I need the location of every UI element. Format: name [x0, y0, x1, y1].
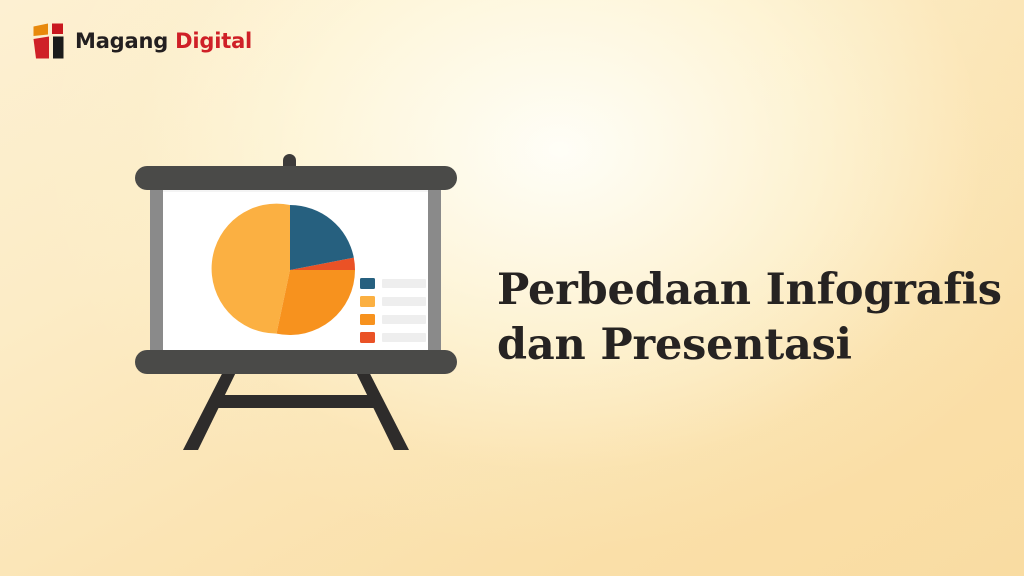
presentation-board-illustration: [128, 152, 464, 452]
board-top-bar: [135, 166, 457, 190]
legend-item: [360, 296, 426, 307]
legend-swatch: [360, 314, 375, 325]
legend-label-bar: [382, 279, 426, 288]
brand-name-part-1: Magang: [75, 29, 175, 53]
magang-digital-logo-mark-icon: [32, 22, 66, 60]
board-left-rail: [150, 178, 163, 360]
legend-item: [360, 332, 426, 343]
legend-swatch: [360, 278, 375, 289]
brand-logo-text: Magang Digital: [75, 31, 252, 52]
board-bottom-bar: [135, 350, 457, 374]
page-title-line-1: Perbedaan Infografis: [497, 263, 957, 318]
legend-label-bar: [382, 333, 426, 342]
brand-name-part-2: Digital: [175, 29, 252, 53]
page-title-line-2: dan Presentasi: [497, 318, 957, 373]
legend-swatch: [360, 332, 375, 343]
presentation-board-svg: [128, 152, 464, 452]
board-tripod-legs: [183, 362, 409, 450]
pie-chart: [212, 204, 355, 335]
slide-canvas: Magang Digital: [0, 0, 1024, 576]
page-title: Perbedaan Infografis dan Presentasi: [497, 263, 957, 373]
legend-label-bar: [382, 297, 426, 306]
legend-label-bar: [382, 315, 426, 324]
legend-swatch: [360, 296, 375, 307]
brand-logo[interactable]: Magang Digital: [32, 22, 252, 60]
legend-item: [360, 278, 426, 289]
board-right-rail: [428, 178, 441, 360]
legend-item: [360, 314, 426, 325]
